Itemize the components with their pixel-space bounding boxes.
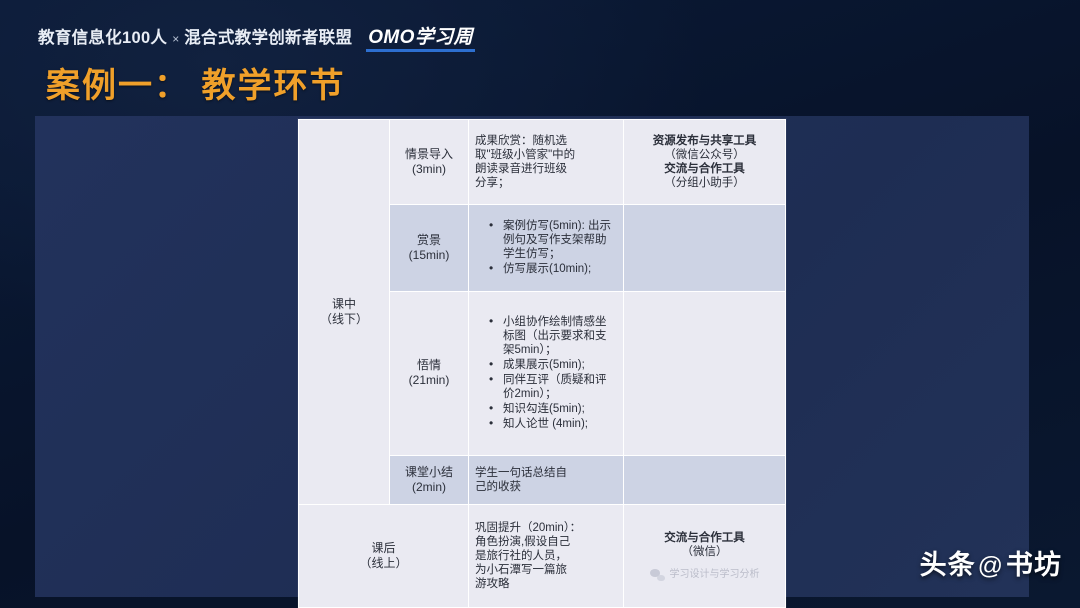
- activity-line: 取"班级小管家"中的: [475, 148, 617, 162]
- list-item: 知人论世 (4min);: [489, 417, 617, 431]
- list-item: 同伴互评（质疑和评价2min）；: [489, 373, 617, 401]
- stage-label: 课后: [371, 541, 395, 555]
- tool-name-label: 交流与合作工具: [630, 162, 779, 176]
- activity-text: 成果欣赏：随机选 取"班级小管家"中的 朗读录音进行班级 分享；: [475, 134, 617, 190]
- activity-cell: 巩固提升（20min）： 角色扮演,假设自己 是旅行社的人员， 为小石潭写一篇旅…: [469, 505, 624, 608]
- wechat-icon: [650, 568, 665, 581]
- list-item: 知识勾连(5min);: [489, 402, 617, 416]
- phase-label: 情景导入: [405, 147, 453, 161]
- phase-label: 课堂小结: [405, 465, 453, 479]
- activity-line: 巩固提升（20min）：: [475, 521, 617, 535]
- teaching-stages-table: 课中 （线下） 情景导入 (3min) 成果欣赏：随机选 取"班级小管家"中的 …: [298, 119, 786, 608]
- kicker-separator: ×: [172, 32, 179, 46]
- phase-cell: 赏景 (15min): [390, 204, 469, 291]
- tools-cell: [624, 291, 786, 455]
- source-watermark: 学习设计与学习分析: [630, 568, 779, 581]
- tool-detail-label: （微信公众号）: [630, 148, 779, 162]
- slide-canvas: 教育信息化100人 × 混合式教学创新者联盟 OMO学习周 案例一： 教学环节 …: [0, 0, 1080, 608]
- stage-label: 课中: [332, 297, 356, 311]
- activity-list: 小组协作绘制情感坐标图（出示要求和支架5min）； 成果展示(5min); 同伴…: [475, 315, 617, 431]
- brand-label: OMO学习周: [368, 22, 473, 49]
- kicker-partner-label: 混合式教学创新者联盟: [184, 24, 352, 48]
- tools-cell: 资源发布与共享工具 （微信公众号） 交流与合作工具 （分组小助手）: [624, 120, 786, 205]
- table-body: 课中 （线下） 情景导入 (3min) 成果欣赏：随机选 取"班级小管家"中的 …: [299, 120, 786, 608]
- watermark-brand-label: 头条: [920, 550, 976, 580]
- activity-line: 角色扮演,假设自己: [475, 535, 617, 549]
- watermark-handle-label: 书坊: [1006, 550, 1062, 580]
- stage-sublabel: （线上）: [305, 556, 462, 571]
- list-item: 案例仿写(5min): 出示例句及写作支架帮助学生仿写；: [489, 219, 617, 261]
- tools-cell: [624, 455, 786, 505]
- tool-name-label: 资源发布与共享工具: [630, 134, 779, 148]
- activity-list: 案例仿写(5min): 出示例句及写作支架帮助学生仿写； 仿写展示(10min)…: [475, 219, 617, 276]
- tool-name-label: 交流与合作工具: [630, 531, 779, 545]
- activity-line: 成果欣赏：随机选: [475, 134, 617, 148]
- list-item: 仿写展示(10min);: [489, 262, 617, 276]
- list-item: 成果展示(5min);: [489, 358, 617, 372]
- toutiao-watermark: 头条@书坊: [920, 543, 1062, 582]
- table-row: 课中 （线下） 情景导入 (3min) 成果欣赏：随机选 取"班级小管家"中的 …: [299, 120, 786, 205]
- phase-label: 悟情: [417, 358, 441, 372]
- activity-line: 学生一句话总结自: [475, 466, 617, 480]
- tool-detail-label: （分组小助手）: [630, 176, 779, 190]
- table-row: 课后 （线上） 巩固提升（20min）： 角色扮演,假设自己 是旅行社的人员， …: [299, 505, 786, 608]
- stage-cell: 课后 （线上）: [299, 505, 469, 608]
- tool-detail-label: （微信）: [630, 545, 779, 559]
- kicker-main-label: 教育信息化100人: [38, 24, 167, 48]
- watermark-at-symbol: @: [978, 552, 1004, 580]
- phase-label: 赏景: [417, 233, 441, 247]
- activity-line: 为小石潭写一篇旅: [475, 563, 617, 577]
- activity-line: 己的收获: [475, 480, 617, 494]
- page-title: 案例一： 教学环节: [46, 58, 345, 107]
- activity-text: 巩固提升（20min）： 角色扮演,假设自己 是旅行社的人员， 为小石潭写一篇旅…: [475, 521, 617, 591]
- activity-line: 分享；: [475, 176, 617, 190]
- phase-cell: 情景导入 (3min): [390, 120, 469, 205]
- stage-sublabel: （线下）: [305, 312, 383, 327]
- activity-cell: 学生一句话总结自 己的收获: [469, 455, 624, 505]
- tools-cell: 交流与合作工具 （微信） 学习设计与学习分析: [624, 505, 786, 608]
- tools-cell: [624, 204, 786, 291]
- phase-cell: 课堂小结 (2min): [390, 455, 469, 505]
- activity-line: 是旅行社的人员，: [475, 549, 617, 563]
- header-kicker: 教育信息化100人 × 混合式教学创新者联盟 OMO学习周: [38, 22, 473, 49]
- phase-time-label: (2min): [396, 480, 462, 495]
- phase-time-label: (15min): [396, 248, 462, 263]
- activity-cell: 小组协作绘制情感坐标图（出示要求和支架5min）； 成果展示(5min); 同伴…: [469, 291, 624, 455]
- list-item: 小组协作绘制情感坐标图（出示要求和支架5min）；: [489, 315, 617, 357]
- activity-line: 游攻略: [475, 577, 617, 591]
- phase-time-label: (3min): [396, 162, 462, 177]
- activity-cell: 成果欣赏：随机选 取"班级小管家"中的 朗读录音进行班级 分享；: [469, 120, 624, 205]
- activity-line: 朗读录音进行班级: [475, 162, 617, 176]
- activity-text: 学生一句话总结自 己的收获: [475, 466, 617, 494]
- phase-cell: 悟情 (21min): [390, 291, 469, 455]
- activity-cell: 案例仿写(5min): 出示例句及写作支架帮助学生仿写； 仿写展示(10min)…: [469, 204, 624, 291]
- phase-time-label: (21min): [396, 373, 462, 388]
- stage-cell: 课中 （线下）: [299, 120, 390, 505]
- source-watermark-label: 学习设计与学习分析: [670, 569, 760, 581]
